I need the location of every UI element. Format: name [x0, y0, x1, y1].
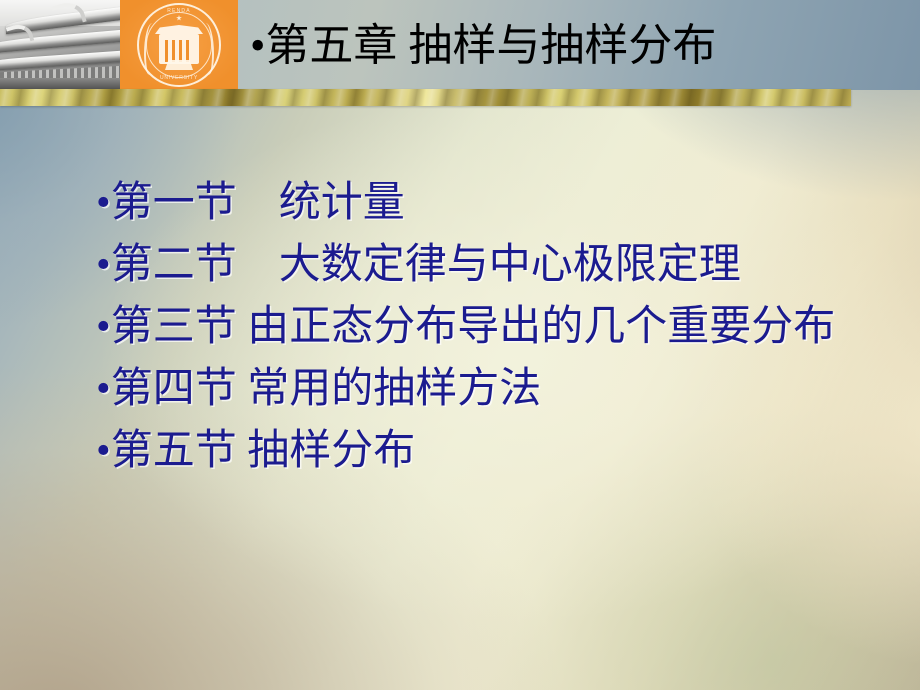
logo-panel: RENDA UNIVERSITY	[120, 0, 238, 90]
list-item-label: 第四节 常用的抽样方法	[111, 366, 542, 412]
list-item: •第四节 常用的抽样方法	[96, 358, 836, 420]
gold-divider-band	[0, 89, 851, 106]
seal-podium	[165, 60, 193, 70]
seal-wheat-left-icon	[144, 23, 158, 75]
presentation-slide: RENDA UNIVERSITY •第五章 抽样与抽样分布 •第一节 统计量 •…	[0, 0, 920, 690]
bullet-icon: •	[96, 366, 111, 412]
seal-building-icon	[159, 34, 199, 64]
bullet-icon: •	[96, 304, 111, 350]
slide-title: •第五章 抽样与抽样分布	[250, 20, 716, 72]
list-item-label: 第五节 抽样分布	[111, 428, 416, 474]
list-item: •第二节 大数定律与中心极限定理	[96, 234, 836, 296]
bullet-icon: •	[96, 428, 111, 474]
university-seal-icon: RENDA UNIVERSITY	[137, 3, 221, 87]
seal-ring-text-bottom: UNIVERSITY	[137, 75, 221, 81]
list-item: •第五节 抽样分布	[96, 420, 836, 482]
list-item-label: 第三节 由正态分布导出的几个重要分布	[111, 304, 836, 350]
list-item: •第一节 统计量	[96, 172, 836, 234]
bullet-icon: •	[96, 180, 111, 226]
slide-header: RENDA UNIVERSITY •第五章 抽样与抽样分布	[0, 0, 920, 90]
bullet-icon: •	[96, 242, 111, 288]
list-item: •第三节 由正态分布导出的几个重要分布	[96, 296, 836, 358]
list-item-label: 第一节 统计量	[111, 180, 405, 226]
list-item-label: 第二节 大数定律与中心极限定理	[111, 242, 741, 288]
slide-body-list: •第一节 统计量 •第二节 大数定律与中心极限定理 •第三节 由正态分布导出的几…	[96, 172, 836, 482]
seal-ring-text-top: RENDA	[137, 8, 221, 14]
